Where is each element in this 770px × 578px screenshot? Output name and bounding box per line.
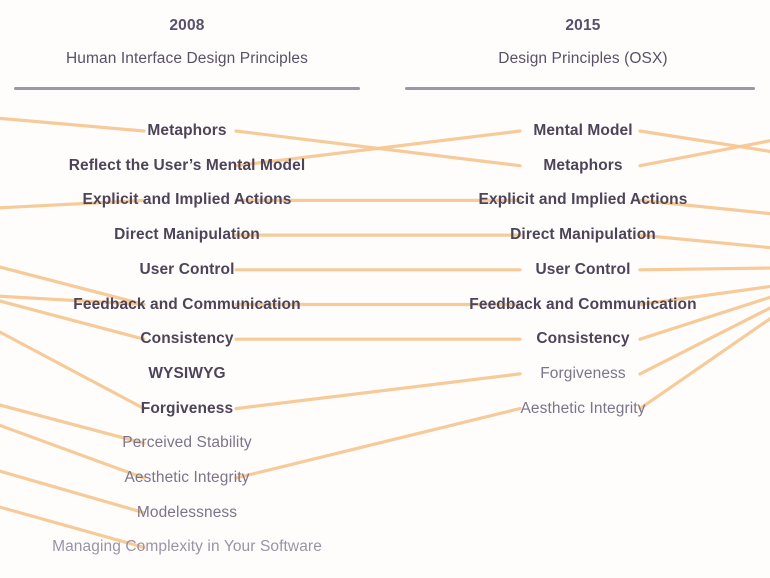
principle-item: User Control [396, 260, 770, 280]
principle-item: Explicit and Implied Actions [0, 190, 374, 210]
principle-item: Feedback and Communication [396, 295, 770, 315]
principle-item: Direct Manipulation [0, 225, 374, 245]
diagram-canvas: 2008 Human Interface Design Principles M… [0, 0, 770, 578]
principle-item: Mental Model [396, 121, 770, 141]
principle-item: Metaphors [0, 121, 374, 141]
column-2015: 2015 Design Principles (OSX) Mental Mode… [396, 0, 770, 90]
principle-item: Managing Complexity in Your Software [0, 537, 374, 557]
principle-item: Reflect the User’s Mental Model [0, 156, 374, 176]
column-2008-year: 2008 [0, 0, 374, 35]
column-2015-year: 2015 [396, 0, 770, 35]
principle-item: WYSIWYG [0, 364, 374, 384]
principle-item: Aesthetic Integrity [396, 399, 770, 419]
principle-item: Direct Manipulation [396, 225, 770, 245]
principle-item: Feedback and Communication [0, 295, 374, 315]
principle-item: Perceived Stability [0, 433, 374, 453]
principle-item: Explicit and Implied Actions [396, 190, 770, 210]
column-2015-title: Design Principles (OSX) [396, 35, 770, 68]
principle-item: Consistency [396, 329, 770, 349]
principle-item: Aesthetic Integrity [0, 468, 374, 488]
principle-item: Consistency [0, 329, 374, 349]
principle-item: Forgiveness [0, 399, 374, 419]
column-2008: 2008 Human Interface Design Principles M… [0, 0, 374, 90]
column-2015-rule [405, 87, 755, 90]
principle-item: Modelessness [0, 503, 374, 523]
column-2008-rule [14, 87, 360, 90]
column-2008-title: Human Interface Design Principles [0, 35, 374, 68]
principle-item: Forgiveness [396, 364, 770, 384]
principle-item: User Control [0, 260, 374, 280]
principle-item: Metaphors [396, 156, 770, 176]
